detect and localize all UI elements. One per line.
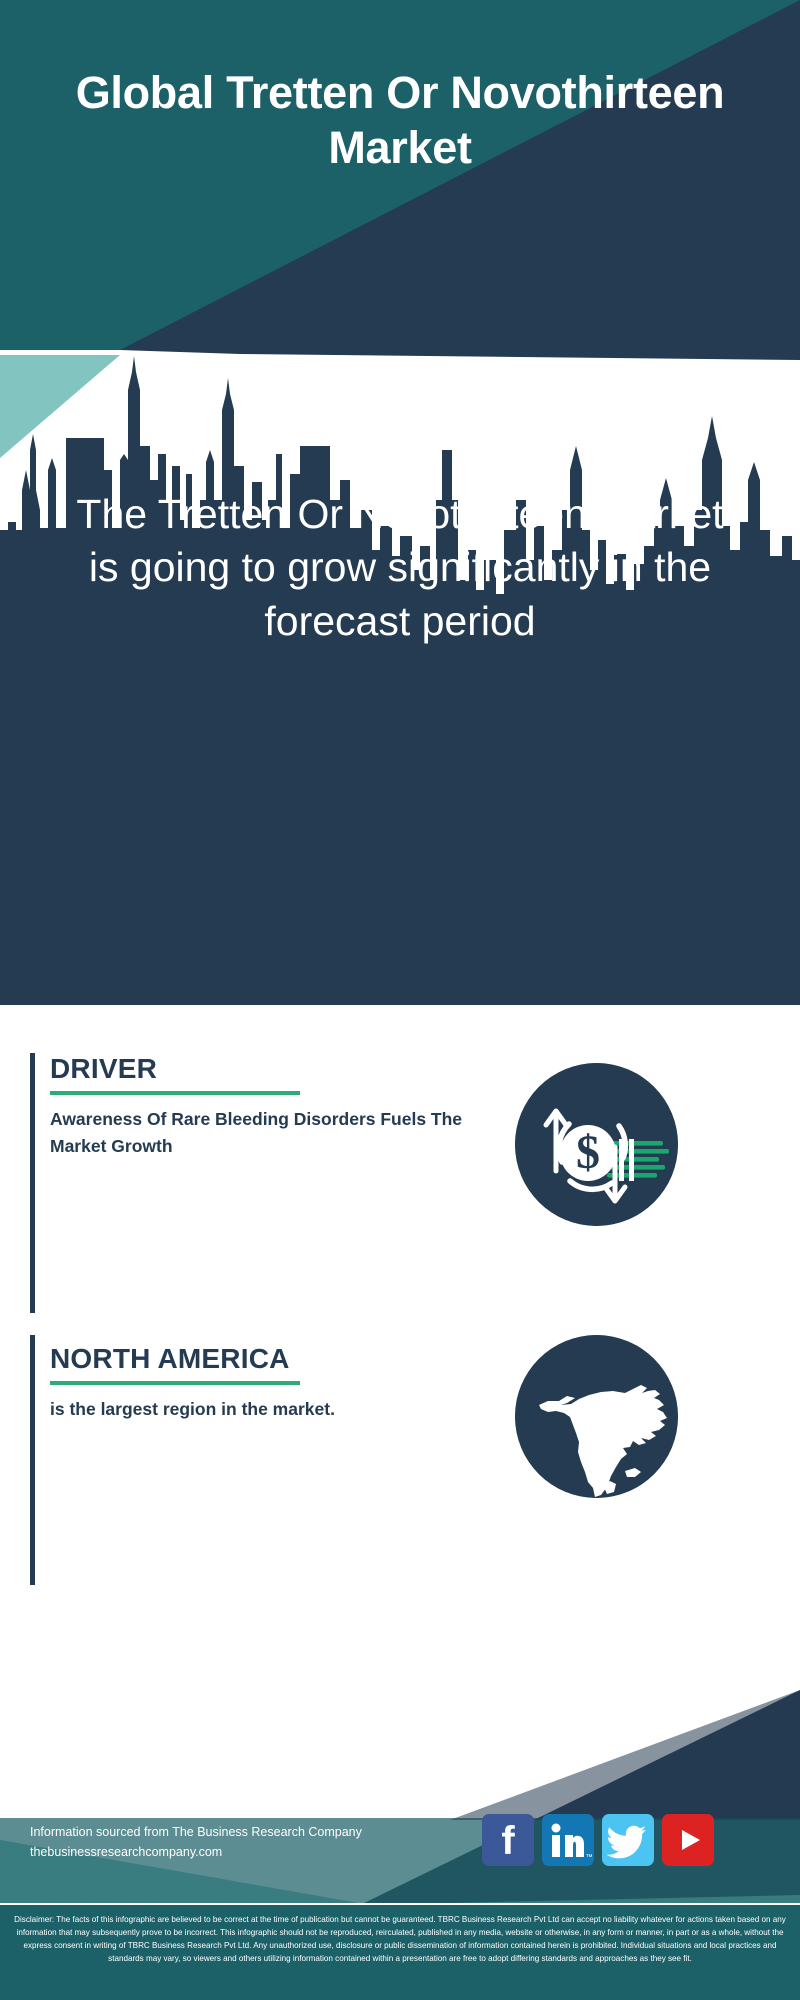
- infographic-root: Global Tretten Or Novothirteen Market Th…: [0, 0, 800, 2000]
- youtube-icon[interactable]: [662, 1814, 714, 1866]
- svg-text:™: ™: [586, 1854, 593, 1861]
- north-america-map-glyph: [515, 1335, 678, 1498]
- card-accent-bar: [30, 1335, 35, 1585]
- page-title: Global Tretten Or Novothirteen Market: [0, 66, 800, 176]
- card-body: NORTH AMERICA is the largest region in t…: [50, 1343, 510, 1423]
- disclaimer-text: Disclaimer: The facts of this infographi…: [0, 1905, 800, 2000]
- card-description: is the largest region in the market.: [50, 1396, 510, 1423]
- card-underline: [50, 1381, 300, 1385]
- insight-cards: DRIVER Awareness Of Rare Bleeding Disord…: [0, 1005, 800, 1660]
- hero-section: The Tretten Or Novothirteen Market is go…: [0, 350, 800, 1005]
- footer-diagonal-shape: [0, 1660, 800, 1905]
- social-links: f ™: [482, 1814, 714, 1866]
- facebook-icon[interactable]: f: [482, 1814, 534, 1866]
- footer-credit: Information sourced from The Business Re…: [30, 1822, 410, 1863]
- north-america-map-icon: [515, 1335, 678, 1498]
- dollar-growth-icon: $: [515, 1063, 678, 1226]
- card-body: DRIVER Awareness Of Rare Bleeding Disord…: [50, 1053, 510, 1160]
- card-title: NORTH AMERICA: [50, 1343, 510, 1374]
- dollar-growth-glyph: $: [515, 1063, 678, 1226]
- header-banner: Global Tretten Or Novothirteen Market: [0, 0, 800, 350]
- card-region: NORTH AMERICA is the largest region in t…: [30, 1335, 770, 1585]
- card-underline: [50, 1091, 300, 1095]
- credit-line-1: Information sourced from The Business Re…: [30, 1822, 410, 1842]
- card-driver: DRIVER Awareness Of Rare Bleeding Disord…: [30, 1053, 770, 1313]
- card-title: DRIVER: [50, 1053, 510, 1084]
- card-accent-bar: [30, 1053, 35, 1313]
- footer-banner: Information sourced from The Business Re…: [0, 1660, 800, 1905]
- city-skyline-icon: [0, 350, 800, 1005]
- hero-statement: The Tretten Or Novothirteen Market is go…: [0, 488, 800, 648]
- footer-divider: [0, 1903, 800, 1905]
- linkedin-icon[interactable]: ™: [542, 1814, 594, 1866]
- svg-text:$: $: [576, 1126, 600, 1179]
- credit-line-2[interactable]: thebusinessresearchcompany.com: [30, 1842, 410, 1862]
- card-description: Awareness Of Rare Bleeding Disorders Fue…: [50, 1106, 510, 1160]
- twitter-icon[interactable]: [602, 1814, 654, 1866]
- svg-text:f: f: [501, 1819, 515, 1863]
